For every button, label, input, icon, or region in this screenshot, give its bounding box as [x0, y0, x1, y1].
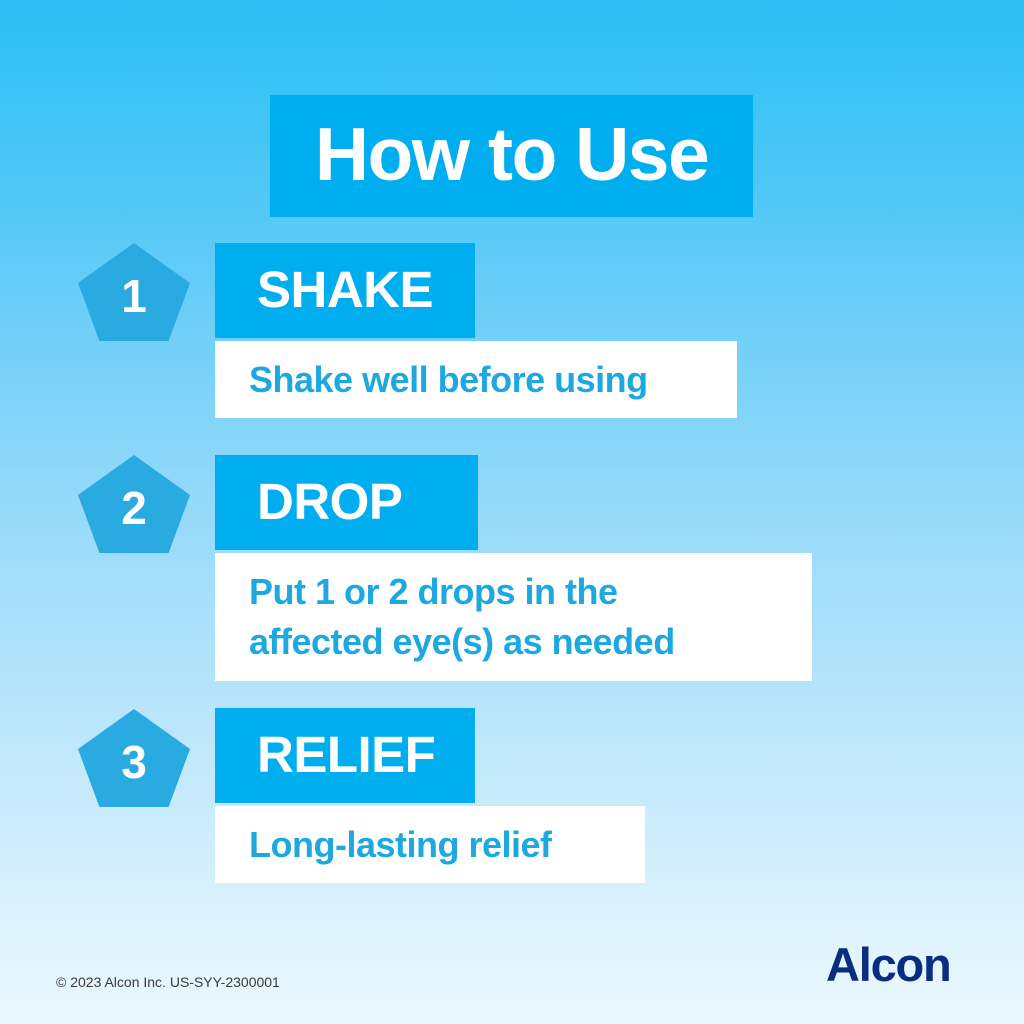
alcon-logo: Alcon	[826, 941, 951, 988]
step-number-1: 1	[78, 247, 190, 345]
step-heading-3: RELIEF	[257, 729, 435, 780]
step-description-line: affected eye(s) as needed	[249, 617, 812, 667]
step-description-line: Long-lasting relief	[249, 820, 645, 870]
step-description-box-1: Shake well before using	[215, 341, 737, 418]
title-banner: How to Use	[270, 95, 753, 217]
step-number-3: 3	[78, 713, 190, 811]
copyright-notice: © 2023 Alcon Inc. US-SYY-2300001	[56, 975, 280, 989]
step-description-line: Put 1 or 2 drops in the	[249, 567, 812, 617]
step-heading-banner-3: RELIEF	[215, 708, 475, 803]
step-number-badge-3: 3	[78, 709, 190, 807]
step-description-box-2: Put 1 or 2 drops in the affected eye(s) …	[215, 553, 812, 681]
step-number-2: 2	[78, 459, 190, 557]
how-to-use-infographic: How to Use 1 SHAKE Shake well before usi…	[0, 0, 1024, 1024]
step-heading-1: SHAKE	[257, 264, 433, 315]
step-description-line: Shake well before using	[249, 355, 737, 405]
step-number-badge-1: 1	[78, 243, 190, 341]
step-heading-banner-2: DROP	[215, 455, 478, 550]
step-heading-2: DROP	[257, 476, 402, 527]
step-description-box-3: Long-lasting relief	[215, 806, 645, 883]
step-number-badge-2: 2	[78, 455, 190, 553]
step-heading-banner-1: SHAKE	[215, 243, 475, 338]
page-title: How to Use	[315, 117, 708, 192]
